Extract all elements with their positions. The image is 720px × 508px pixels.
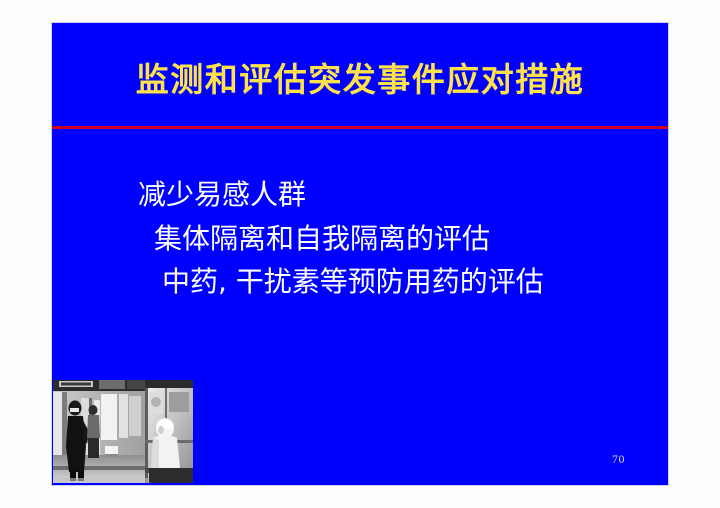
slide-page-number: 70 bbox=[612, 452, 625, 467]
presentation-slide: 监测和评估突发事件应对措施 减少易感人群 集体隔离和自我隔离的评估 中药, 干扰… bbox=[52, 23, 668, 485]
title-divider-rule bbox=[52, 126, 668, 129]
body-line-2: 集体隔离和自我隔离的评估 bbox=[52, 217, 668, 261]
slide-body-block: 减少易感人群 集体隔离和自我隔离的评估 中药, 干扰素等预防用药的评估 bbox=[52, 173, 668, 304]
slide-title-block: 监测和评估突发事件应对措施 bbox=[52, 61, 668, 99]
body-line-1: 减少易感人群 bbox=[52, 173, 668, 217]
body-line-3: 中药, 干扰素等预防用药的评估 bbox=[52, 260, 668, 304]
slide-photo-image bbox=[53, 380, 193, 483]
page-title: 监测和评估突发事件应对措施 bbox=[52, 61, 668, 99]
photo-artwork bbox=[53, 380, 193, 483]
slide-page-canvas: 监测和评估突发事件应对措施 减少易感人群 集体隔离和自我隔离的评估 中药, 干扰… bbox=[0, 0, 720, 508]
